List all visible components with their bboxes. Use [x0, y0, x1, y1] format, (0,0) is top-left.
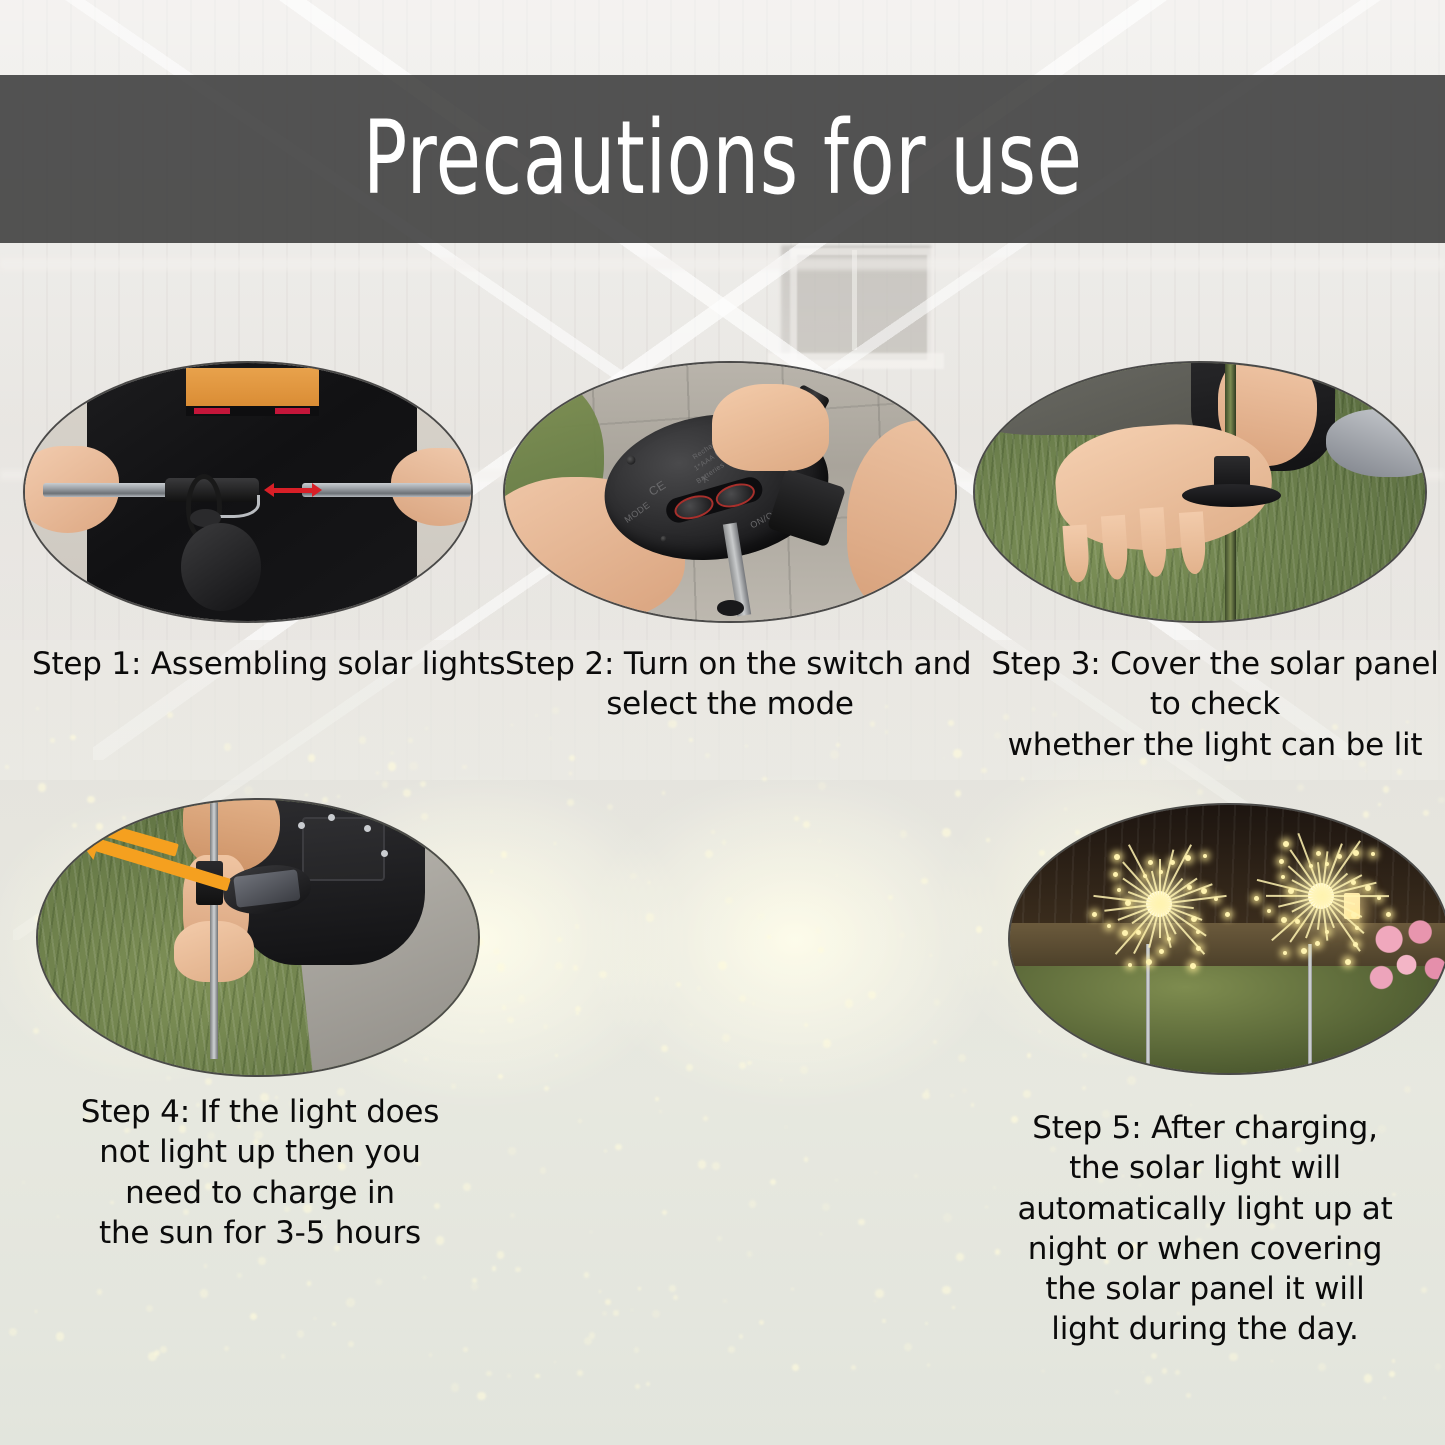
caption-line: the solar light will: [985, 1148, 1425, 1188]
step-5-photo: [1010, 805, 1445, 1073]
step-4-photo: [38, 800, 478, 1075]
solar-panel-disc: [181, 523, 261, 611]
stud-icon: [364, 825, 371, 832]
step-5-caption: Step 5: After charging, the solar light …: [985, 1108, 1425, 1350]
step-4-caption: Step 4: If the light does not light up t…: [42, 1092, 478, 1253]
infographic-page: Precautions for use: [0, 0, 1445, 1445]
solar-cell: [233, 870, 300, 908]
caption-line: Step 5: After charging,: [985, 1108, 1425, 1148]
mode-button-label: MODE: [622, 499, 651, 524]
caption-line: to check: [985, 684, 1445, 724]
caption-line: light during the day.: [985, 1309, 1425, 1349]
onoff-button[interactable]: [713, 480, 757, 512]
caption-line: Step 3: Cover the solar panel: [985, 644, 1445, 684]
cover-panel-photo: [975, 363, 1425, 621]
caption-line: whether the light can be lit: [985, 725, 1445, 765]
lit-at-night-photo: [1010, 805, 1445, 1073]
stud-icon: [381, 850, 388, 857]
caption-line: Step 4: If the light does: [42, 1092, 478, 1132]
mode-button[interactable]: [671, 492, 715, 524]
tshirt-graphic-text: [194, 408, 230, 413]
charge-in-sun-photo: [38, 800, 478, 1075]
step-2-caption: Step 2: Turn on the switch and select th…: [505, 644, 955, 725]
step-2-photo: Rechargeable Battery 1*AAA Rechargeable …: [505, 363, 955, 621]
ground-stake: [210, 800, 219, 1059]
caption-line: Step 1: Assembling solar lights: [32, 644, 482, 684]
red-double-arrow-icon: [273, 488, 313, 492]
step-1-caption: Step 1: Assembling solar lights: [32, 644, 482, 684]
step-1-photo: [25, 363, 471, 621]
caption-line: need to charge in: [42, 1173, 478, 1213]
caption-line: the solar panel it will: [985, 1269, 1425, 1309]
caption-line: night or when covering: [985, 1229, 1425, 1269]
title-banner: Precautions for use: [0, 75, 1445, 243]
tshirt-graphic-text: [275, 408, 311, 413]
step-3-caption: Step 3: Cover the solar panel to check w…: [985, 644, 1445, 765]
switch-mode-photo: Rechargeable Battery 1*AAA Rechargeable …: [505, 363, 955, 621]
ce-mark-icon: CE: [646, 477, 668, 498]
step-3-photo: [975, 363, 1425, 621]
thumb-fingers: [712, 384, 829, 472]
caption-line: Step 2: Turn on the switch and: [505, 644, 955, 684]
page-title: Precautions for use: [363, 108, 1083, 210]
screw-icon: [626, 455, 636, 465]
stake-tip: [717, 600, 744, 615]
caption-line: automatically light up at: [985, 1189, 1425, 1229]
rod-segment-right: [302, 483, 471, 497]
caption-line: select the mode: [505, 684, 955, 724]
caption-line: the sun for 3-5 hours: [42, 1213, 478, 1253]
stud-icon: [298, 822, 305, 829]
caption-line: not light up then you: [42, 1132, 478, 1172]
screw-icon: [660, 535, 667, 542]
assembling-rods-photo: [25, 363, 471, 621]
tshirt-graphic: [186, 368, 320, 409]
button-slot: [663, 474, 765, 525]
trouser-pocket: [302, 817, 385, 882]
firework-light-burst: [1207, 813, 1435, 979]
